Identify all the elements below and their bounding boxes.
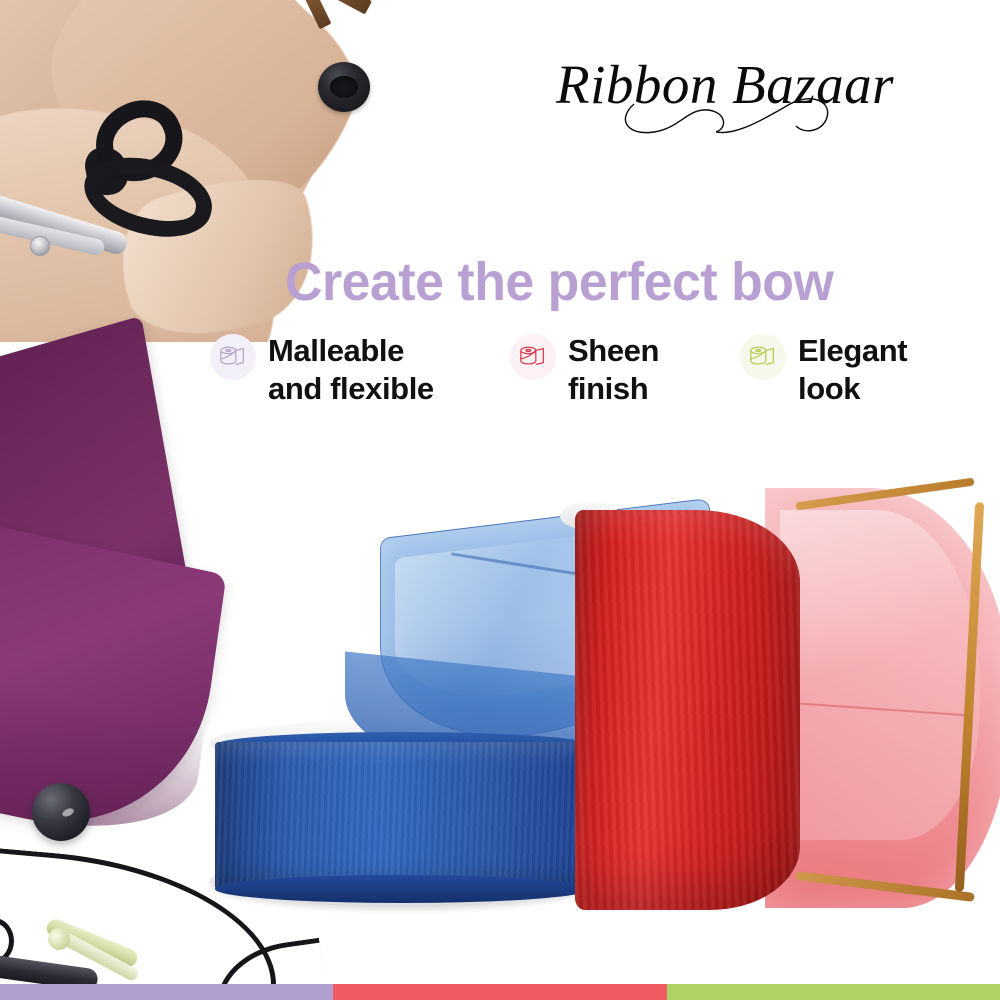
feature-label: Malleable and flexible bbox=[268, 332, 458, 408]
brand-logo: Ribbon Bazaar bbox=[556, 52, 966, 122]
ribbon-roll-icon bbox=[210, 334, 256, 380]
wooden-stick bbox=[293, 0, 332, 29]
blue-ribbon-bottom-edge bbox=[215, 875, 590, 903]
feature-label: Sheen finish bbox=[568, 332, 708, 408]
brand-name: Ribbon Bazaar bbox=[556, 52, 966, 118]
scissors-icon bbox=[0, 92, 280, 282]
ribbon-roll-icon bbox=[510, 334, 556, 380]
wooden-sticks bbox=[285, 0, 475, 48]
footer-color-bar bbox=[0, 984, 1000, 1000]
black-button bbox=[318, 62, 370, 112]
footer-bar-segment-red bbox=[333, 984, 667, 1000]
page-title: Create the perfect bow bbox=[285, 252, 947, 312]
green-tool-head bbox=[48, 928, 70, 950]
feature-item-elegant: Elegant look bbox=[740, 332, 990, 472]
footer-bar-segment-green bbox=[667, 984, 1000, 1000]
feature-item-sheen: Sheen finish bbox=[510, 332, 740, 472]
ribbon-spools-photo bbox=[195, 480, 985, 950]
footer-bar-segment-purple bbox=[0, 984, 333, 1000]
feature-label: Elegant look bbox=[798, 332, 958, 408]
button-hole bbox=[341, 81, 347, 87]
blue-ribbon-spool bbox=[215, 742, 590, 890]
red-ribbon-spool bbox=[575, 510, 800, 910]
ribbon-roll-icon bbox=[740, 334, 786, 380]
button-hole bbox=[336, 89, 342, 95]
feature-item-malleable: Malleable and flexible bbox=[210, 332, 510, 472]
gold-wired-edge bbox=[195, 480, 204, 876]
feature-list: Malleable and flexible Sheen finish bbox=[210, 332, 990, 472]
product-marketing-image: Ribbon Bazaar Create the perfect bow Mal… bbox=[0, 0, 1000, 1000]
dark-bead bbox=[32, 783, 90, 841]
